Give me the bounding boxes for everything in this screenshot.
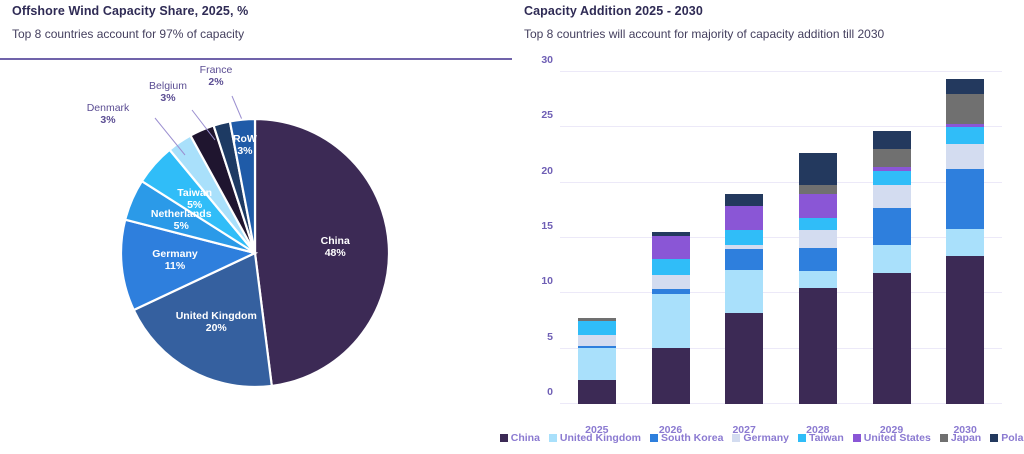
bar-segment-united-states[interactable] [799,194,837,218]
bar-stack-2027[interactable] [725,72,763,404]
offshore-wind-share-panel: Offshore Wind Capacity Share, 2025, % To… [0,0,512,454]
bar-segment-germany[interactable] [873,185,911,208]
legend-swatch-icon [798,434,806,442]
pie-slice-china[interactable] [255,119,389,386]
bar-segment-south-korea[interactable] [652,289,690,295]
y-axis-tick-label: 30 [541,54,553,66]
left-panel-subtitle: Top 8 countries account for 97% of capac… [12,27,500,42]
bar-segment-united-kingdom[interactable] [578,348,616,380]
legend-label: Germany [743,432,789,444]
bar-segment-united-kingdom[interactable] [652,294,690,347]
legend-item-germany[interactable]: Germany [732,432,789,444]
y-gridline: 5 [560,348,1002,349]
legend-swatch-icon [549,434,557,442]
bar-segment-germany[interactable] [725,245,763,249]
bar-segment-germany[interactable] [946,144,984,169]
bar-segment-united-states[interactable] [725,206,763,230]
bar-stack-2025[interactable] [578,72,616,404]
y-axis-tick-label: 5 [547,331,553,343]
bar-segment-germany[interactable] [652,275,690,289]
right-panel-subtitle: Top 8 countries will account for majorit… [524,27,1012,42]
left-panel-header: Offshore Wind Capacity Share, 2025, % To… [12,4,500,42]
legend-swatch-icon [990,434,998,442]
bar-segment-germany[interactable] [578,335,616,346]
y-gridline: 30 [560,71,1002,72]
bar-segment-china[interactable] [873,273,911,404]
bar-segment-poland[interactable] [652,232,690,235]
legend-swatch-icon [732,434,740,442]
left-panel-title: Offshore Wind Capacity Share, 2025, % [12,4,500,19]
bar-segment-taiwan[interactable] [799,218,837,230]
y-axis-tick-label: 20 [541,165,553,177]
bar-segment-poland[interactable] [946,79,984,94]
bar-segment-united-states[interactable] [873,167,911,170]
y-gridline: 0 [560,403,1002,404]
bar-segment-taiwan[interactable] [946,127,984,144]
pie-chart: China48%United Kingdom20%Germany11%Nethe… [0,60,512,454]
y-gridline: 10 [560,292,1002,293]
bar-segment-china[interactable] [578,380,616,404]
legend-item-japan[interactable]: Japan [940,432,981,444]
legend-item-taiwan[interactable]: Taiwan [798,432,844,444]
bar-segment-china[interactable] [652,348,690,404]
legend-swatch-icon [853,434,861,442]
y-axis-tick-label: 15 [541,220,553,232]
bar-segment-china[interactable] [946,256,984,404]
legend-item-poland[interactable]: Poland [990,432,1024,444]
bar-segment-japan[interactable] [946,94,984,124]
bar-segment-united-states[interactable] [652,236,690,259]
bar-segment-japan[interactable] [578,318,616,321]
bar-segment-japan[interactable] [799,185,837,194]
legend-label: Japan [951,432,981,444]
bar-segment-taiwan[interactable] [652,259,690,274]
right-panel-title: Capacity Addition 2025 - 2030 [524,4,1012,19]
chart-board: Offshore Wind Capacity Share, 2025, % To… [0,0,1024,454]
y-gridline: 15 [560,237,1002,238]
bar-segment-united-kingdom[interactable] [799,271,837,288]
legend-label: United States [864,432,931,444]
legend-label: United Kingdom [560,432,641,444]
legend-swatch-icon [650,434,658,442]
y-axis-tick-label: 0 [547,386,553,398]
bar-segment-taiwan[interactable] [725,230,763,244]
y-axis-tick-label: 10 [541,275,553,287]
y-gridline: 20 [560,182,1002,183]
bar-segment-south-korea[interactable] [799,248,837,271]
bar-segment-poland[interactable] [873,131,911,150]
bar-segment-united-kingdom[interactable] [946,229,984,256]
bar-segment-south-korea[interactable] [578,346,616,347]
legend-swatch-icon [500,434,508,442]
bar-segment-china[interactable] [799,288,837,404]
bar-segment-poland[interactable] [725,194,763,206]
legend-item-united-kingdom[interactable]: United Kingdom [549,432,641,444]
bar-segment-japan[interactable] [873,149,911,167]
right-panel-header: Capacity Addition 2025 - 2030 Top 8 coun… [524,4,1012,42]
pie-chart-svg [0,60,512,454]
bar-segment-germany[interactable] [799,230,837,248]
pie-leader-line [232,96,243,122]
bar-stack-2028[interactable] [799,72,837,404]
legend-item-china[interactable]: China [500,432,540,444]
legend-label: Poland [1001,432,1024,444]
bar-stack-2029[interactable] [873,72,911,404]
bar-segment-united-kingdom[interactable] [873,245,911,274]
plot-area: 051015202530202520262027202820292030 [560,72,1002,404]
legend-swatch-icon [940,434,948,442]
bar-segment-united-kingdom[interactable] [725,270,763,313]
bar-stack-2026[interactable] [652,72,690,404]
right-header-divider [0,58,512,60]
y-axis-tick-label: 25 [541,109,553,121]
y-gridline: 25 [560,126,1002,127]
bar-segment-china[interactable] [725,313,763,404]
bar-segment-south-korea[interactable] [873,208,911,245]
legend-label: Taiwan [809,432,844,444]
stacked-bar-chart: 051015202530202520262027202820292030 [512,60,1024,454]
legend-item-united-states[interactable]: United States [853,432,931,444]
legend-label: China [511,432,540,444]
bar-segment-taiwan[interactable] [578,321,616,335]
bar-segment-south-korea[interactable] [725,249,763,270]
bar-segment-south-korea[interactable] [946,169,984,229]
bar-segment-taiwan[interactable] [873,171,911,185]
legend-item-south-korea[interactable]: South Korea [650,432,723,444]
bar-stack-2030[interactable] [946,72,984,404]
bar-segment-poland[interactable] [799,153,837,185]
legend-label: South Korea [661,432,723,444]
bar-segment-united-states[interactable] [946,124,984,127]
chart-legend: ChinaUnited KingdomSouth KoreaGermanyTai… [512,429,1024,447]
